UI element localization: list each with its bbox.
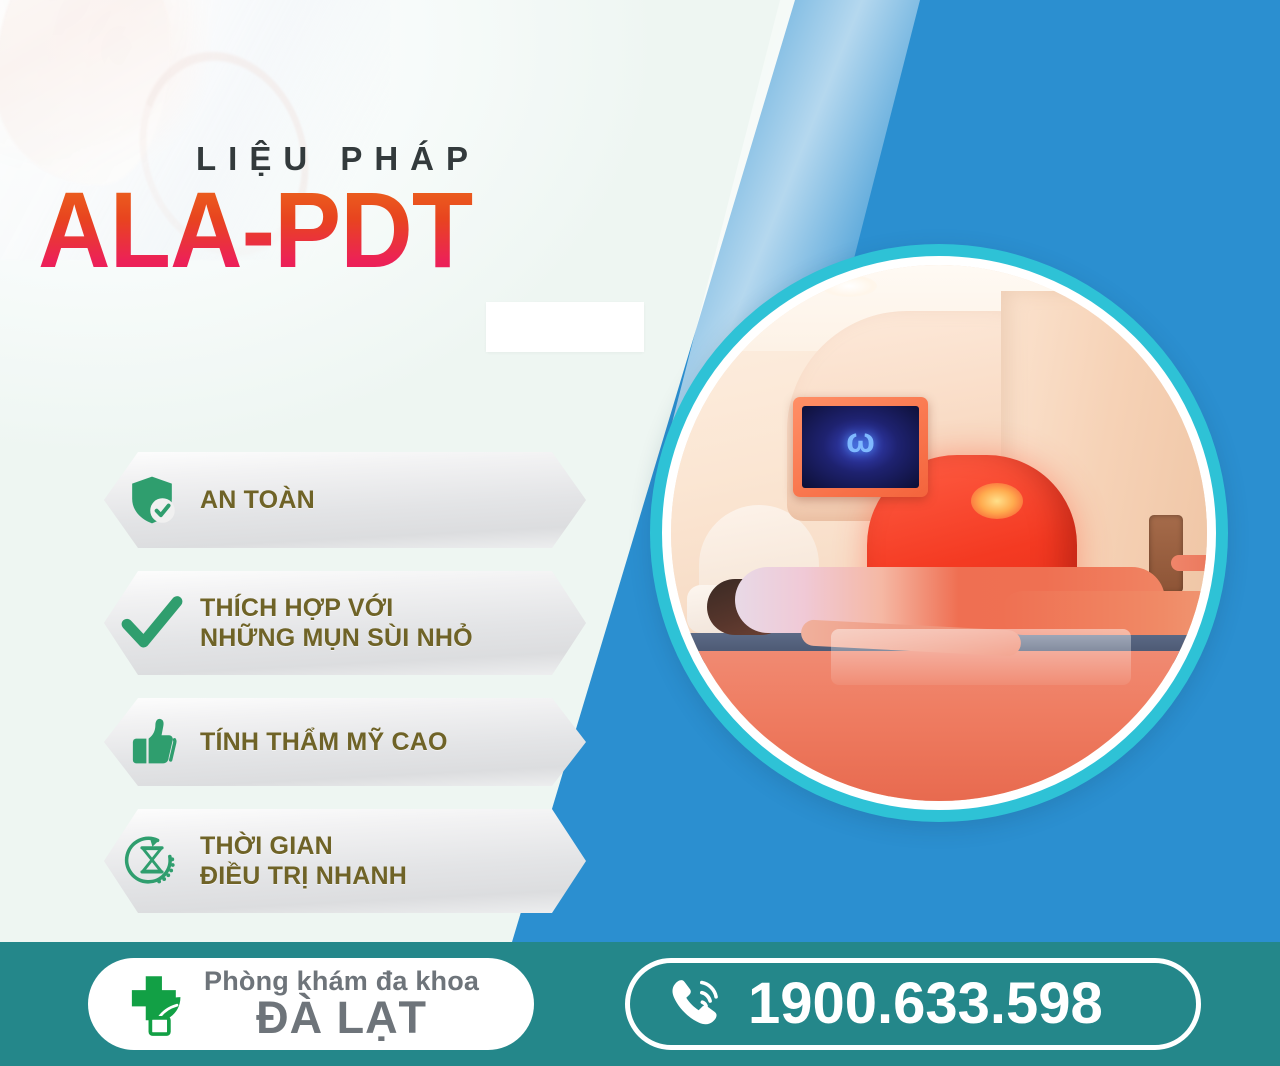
clinic-text: Phòng khám đa khoa ĐÀ LẠT xyxy=(204,967,479,1041)
phone-call-icon xyxy=(666,973,736,1035)
feature-badge-label: TÍNH THẨM MỸ CAO xyxy=(200,727,448,758)
therapy-photo-ring xyxy=(650,244,1228,822)
medical-cross-leaf-icon xyxy=(112,967,198,1041)
feature-badge[interactable]: AN TOÀN xyxy=(104,452,586,548)
thumbs-up-icon xyxy=(104,715,200,769)
promo-banner: LIỆU PHÁP ALA-PDT AN TOÀN THÍC xyxy=(0,0,1280,1066)
fast-time-icon xyxy=(104,832,200,890)
feature-badge[interactable]: THỜI GIAN ĐIỀU TRỊ NHANH xyxy=(104,809,586,913)
phone-number: 1900.633.598 xyxy=(748,975,1103,1033)
shield-check-icon xyxy=(104,472,200,528)
masked-white-block xyxy=(486,302,644,352)
clinic-badge[interactable]: Phòng khám đa khoa ĐÀ LẠT xyxy=(88,958,534,1050)
brand-row: ALA-PDT xyxy=(38,184,678,284)
feature-badge[interactable]: THÍCH HỢP VỚI NHỮNG MỤN SÙI NHỎ xyxy=(104,571,586,675)
check-mark-icon xyxy=(104,594,200,652)
feature-badge-label: THỜI GIAN ĐIỀU TRỊ NHANH xyxy=(200,831,407,892)
brand-title: ALA-PDT xyxy=(38,176,472,284)
feature-badge-label: THÍCH HỢP VỚI NHỮNG MỤN SÙI NHỎ xyxy=(200,593,473,654)
clinic-name: ĐÀ LẠT xyxy=(204,994,479,1041)
feature-badge-label: AN TOÀN xyxy=(200,485,315,516)
feature-badge-list: AN TOÀN THÍCH HỢP VỚI NHỮNG MỤN SÙI NHỎ … xyxy=(104,452,594,936)
pdt-machine-scene xyxy=(671,265,1207,801)
feature-badge[interactable]: TÍNH THẨM MỸ CAO xyxy=(104,698,586,786)
footer-bar: Phòng khám đa khoa ĐÀ LẠT 1900.633.598 xyxy=(0,942,1280,1066)
therapy-photo xyxy=(662,256,1216,810)
phone-cta[interactable]: 1900.633.598 xyxy=(625,958,1201,1050)
headline-block: LIỆU PHÁP ALA-PDT xyxy=(38,140,678,284)
